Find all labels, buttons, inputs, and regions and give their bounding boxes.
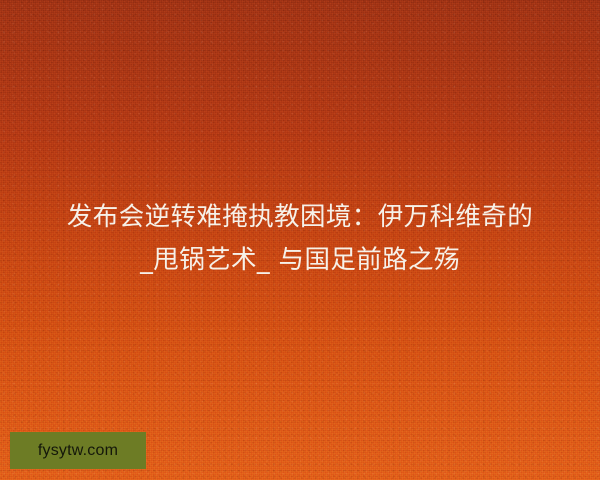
poster-title: 发布会逆转难掩执教困境：伊万科维奇的 _甩锅艺术_ 与国足前路之殇 [0,196,600,282]
title-line-2: _甩锅艺术_ 与国足前路之殇 [14,239,586,282]
title-line-1: 发布会逆转难掩执教困境：伊万科维奇的 [14,196,586,239]
poster-canvas: 发布会逆转难掩执教困境：伊万科维奇的 _甩锅艺术_ 与国足前路之殇 fysytw… [0,0,600,480]
watermark-badge: fysytw.com [10,432,146,469]
watermark-text: fysytw.com [38,443,118,459]
